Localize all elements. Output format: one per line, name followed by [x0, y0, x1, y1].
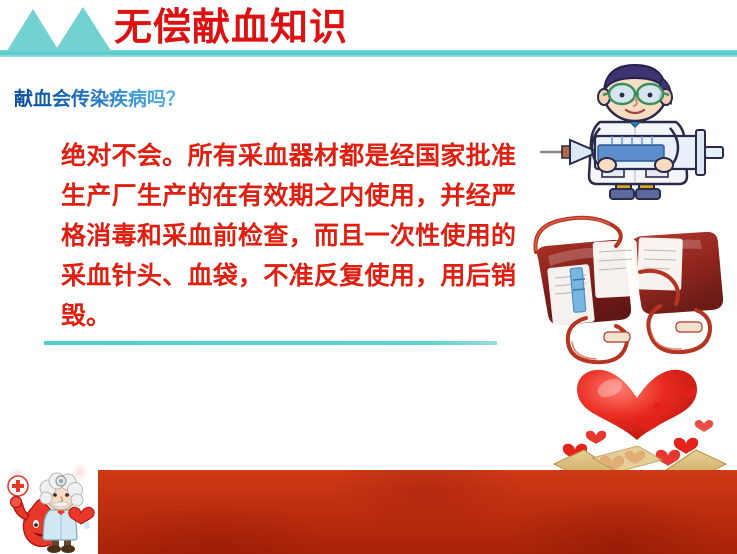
header-accent-bar: [0, 50, 737, 57]
section-divider: [44, 341, 497, 345]
doctor-with-syringe-illustration: [540, 62, 737, 210]
teal-triangle-icon: [7, 9, 59, 51]
answer-paragraph: 绝对不会。所有采血器材都是经国家批准生产厂生产的在有效期之内使用，并经严格消毒和…: [61, 136, 516, 336]
footer-red-band: [97, 470, 737, 554]
doctor-mascot-illustration: [2, 462, 98, 554]
question-heading: 献血会传染疾病吗？: [14, 84, 185, 111]
teal-triangle-icon: [55, 7, 111, 51]
blood-bags-photo: [528, 206, 737, 366]
slide-canvas: 无偿献血知识 献血会传染疾病吗？ 绝对不会。所有采血器材都是经国家批准生产厂生产…: [0, 0, 737, 554]
page-title: 无偿献血知识: [114, 3, 348, 51]
